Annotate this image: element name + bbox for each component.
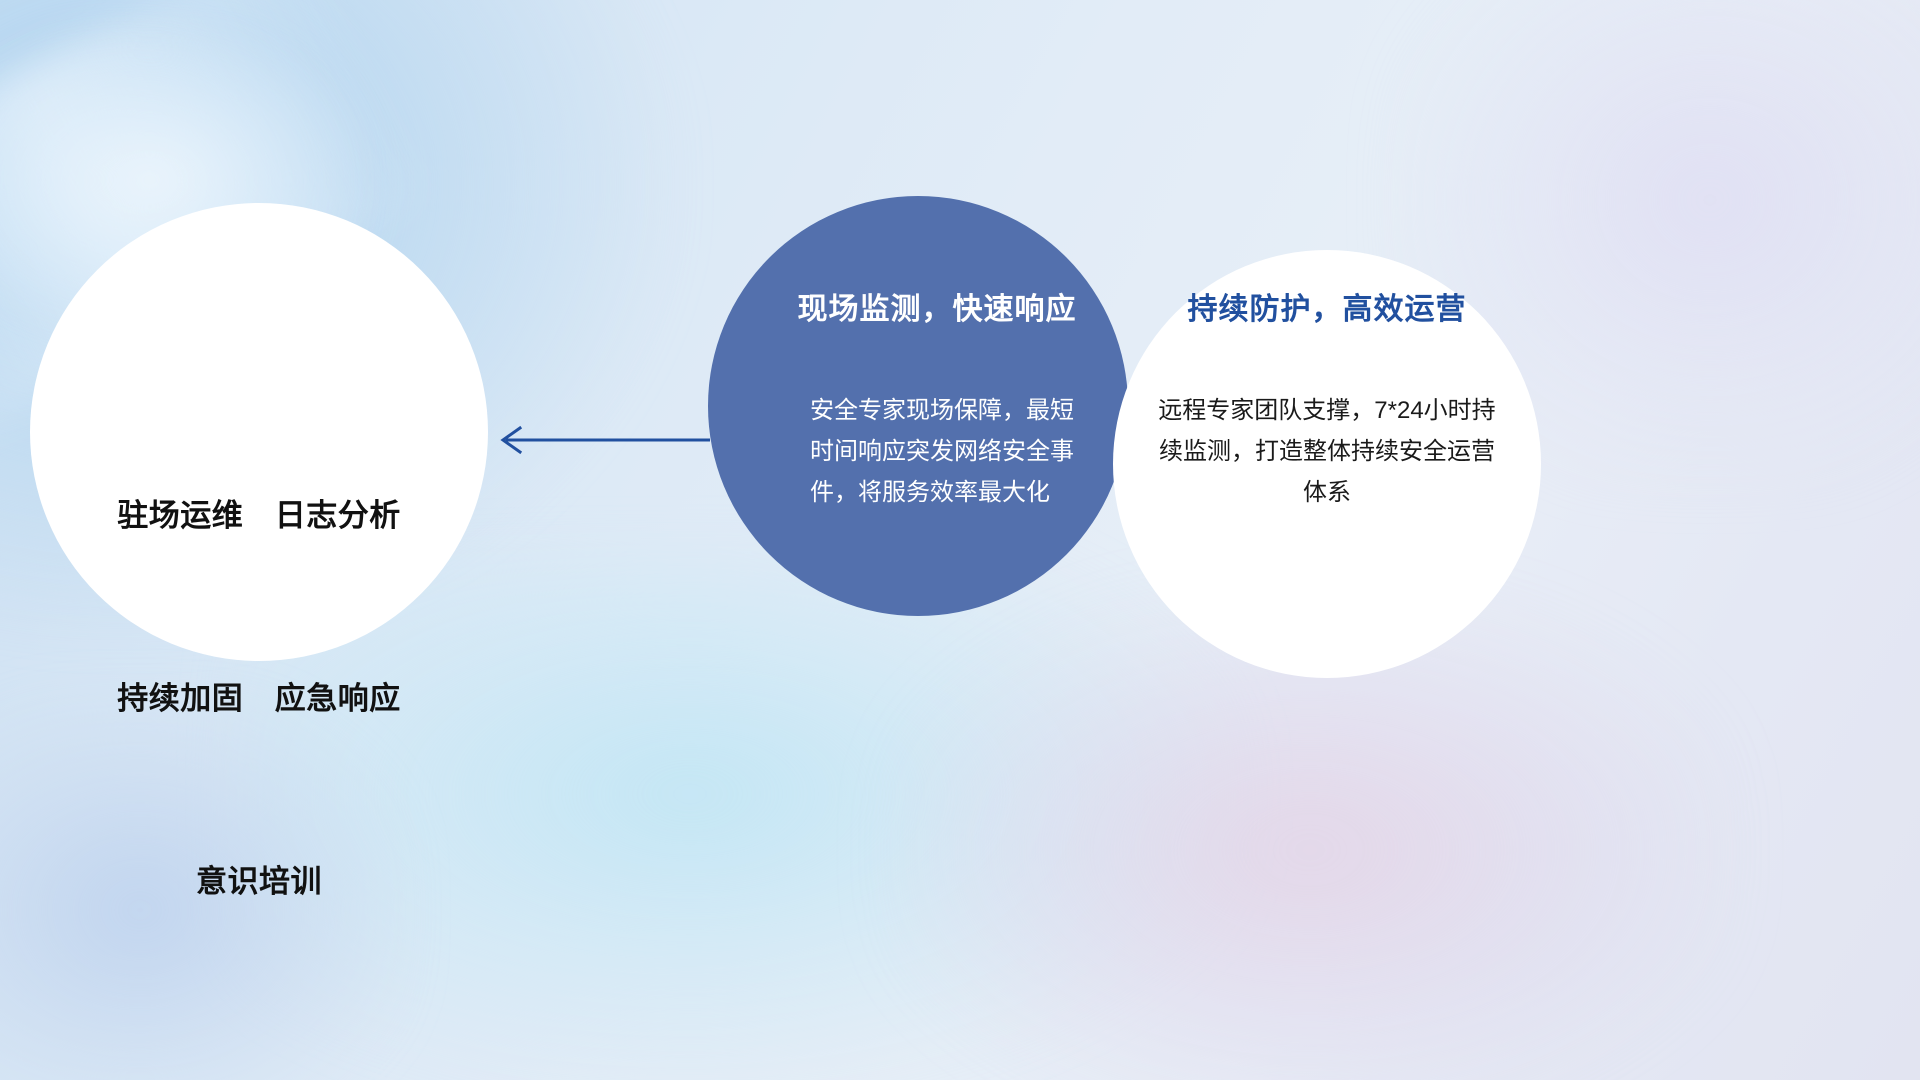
capability-keyword-row-3: 意识培训 <box>117 851 401 912</box>
slide-canvas: 驻场运维 日志分析 持续加固 应急响应 意识培训 现场监测，快速响应 安全专家现… <box>0 0 1920 1080</box>
left-capability-circle: 驻场运维 日志分析 持续加固 应急响应 意识培训 <box>30 203 488 661</box>
capability-keywords: 驻场运维 日志分析 持续加固 应急响应 意识培训 <box>117 363 401 1034</box>
left-circle-content: 驻场运维 日志分析 持续加固 应急响应 意识培训 <box>30 203 488 661</box>
center-onsite-circle: 现场监测，快速响应 安全专家现场保障，最短时间响应突发网络安全事件，将服务效率最… <box>708 196 1128 616</box>
right-circle-content: 持续防护，高效运营 远程专家团队支撑，7*24小时持续监测，打造整体持续安全运营… <box>1113 250 1541 678</box>
right-circle-body: 远程专家团队支撑，7*24小时持续监测，打造整体持续安全运营体系 <box>1152 390 1502 513</box>
center-circle-title: 现场监测，快速响应 <box>798 292 1077 328</box>
flow-arrow-left-icon <box>492 418 712 462</box>
right-operations-circle: 持续防护，高效运营 远程专家团队支撑，7*24小时持续监测，打造整体持续安全运营… <box>1113 250 1541 678</box>
center-circle-content: 现场监测，快速响应 安全专家现场保障，最短时间响应突发网络安全事件，将服务效率最… <box>708 196 1128 616</box>
center-circle-body: 安全专家现场保障，最短时间响应突发网络安全事件，将服务效率最大化 <box>810 390 1078 513</box>
right-circle-title: 持续防护，高效运营 <box>1188 292 1467 328</box>
capability-keyword-row-2: 持续加固 应急响应 <box>117 668 401 729</box>
capability-keyword-row-1: 驻场运维 日志分析 <box>117 485 401 546</box>
